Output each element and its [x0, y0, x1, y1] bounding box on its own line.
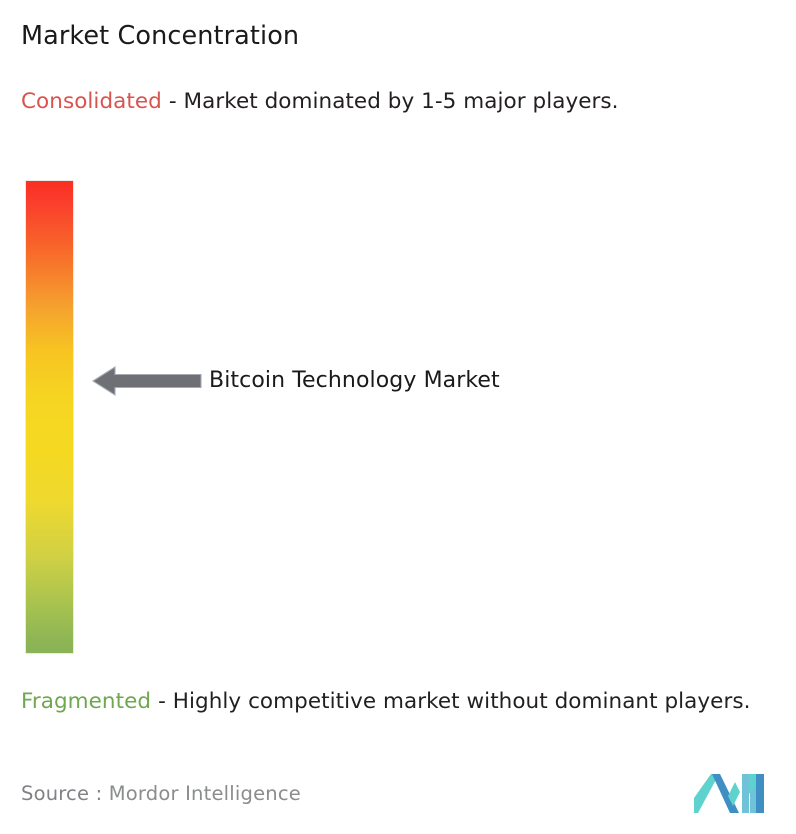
source-attribution: Source : Mordor Intelligence	[21, 781, 301, 807]
fragmented-description: - Highly competitive market without domi…	[158, 689, 750, 714]
market-concentration-chart: Market Concentration Consolidated- Marke…	[0, 0, 796, 834]
concentration-gradient-bar	[26, 181, 73, 653]
consolidated-description: - Market dominated by 1-5 major players.	[169, 89, 619, 114]
mordor-intelligence-logo	[692, 768, 766, 818]
fragmented-caption: Fragmented- Highly competitive market wi…	[21, 686, 783, 718]
arrow-left-icon	[92, 365, 202, 397]
source-value: Mordor Intelligence	[109, 782, 301, 805]
fragmented-keyword: Fragmented	[21, 689, 151, 714]
consolidated-caption: Consolidated- Market dominated by 1-5 ma…	[21, 86, 773, 118]
consolidated-keyword: Consolidated	[21, 89, 162, 114]
source-label: Source :	[21, 782, 102, 805]
page-title: Market Concentration	[21, 20, 299, 52]
market-annotation-label: Bitcoin Technology Market	[209, 367, 500, 395]
